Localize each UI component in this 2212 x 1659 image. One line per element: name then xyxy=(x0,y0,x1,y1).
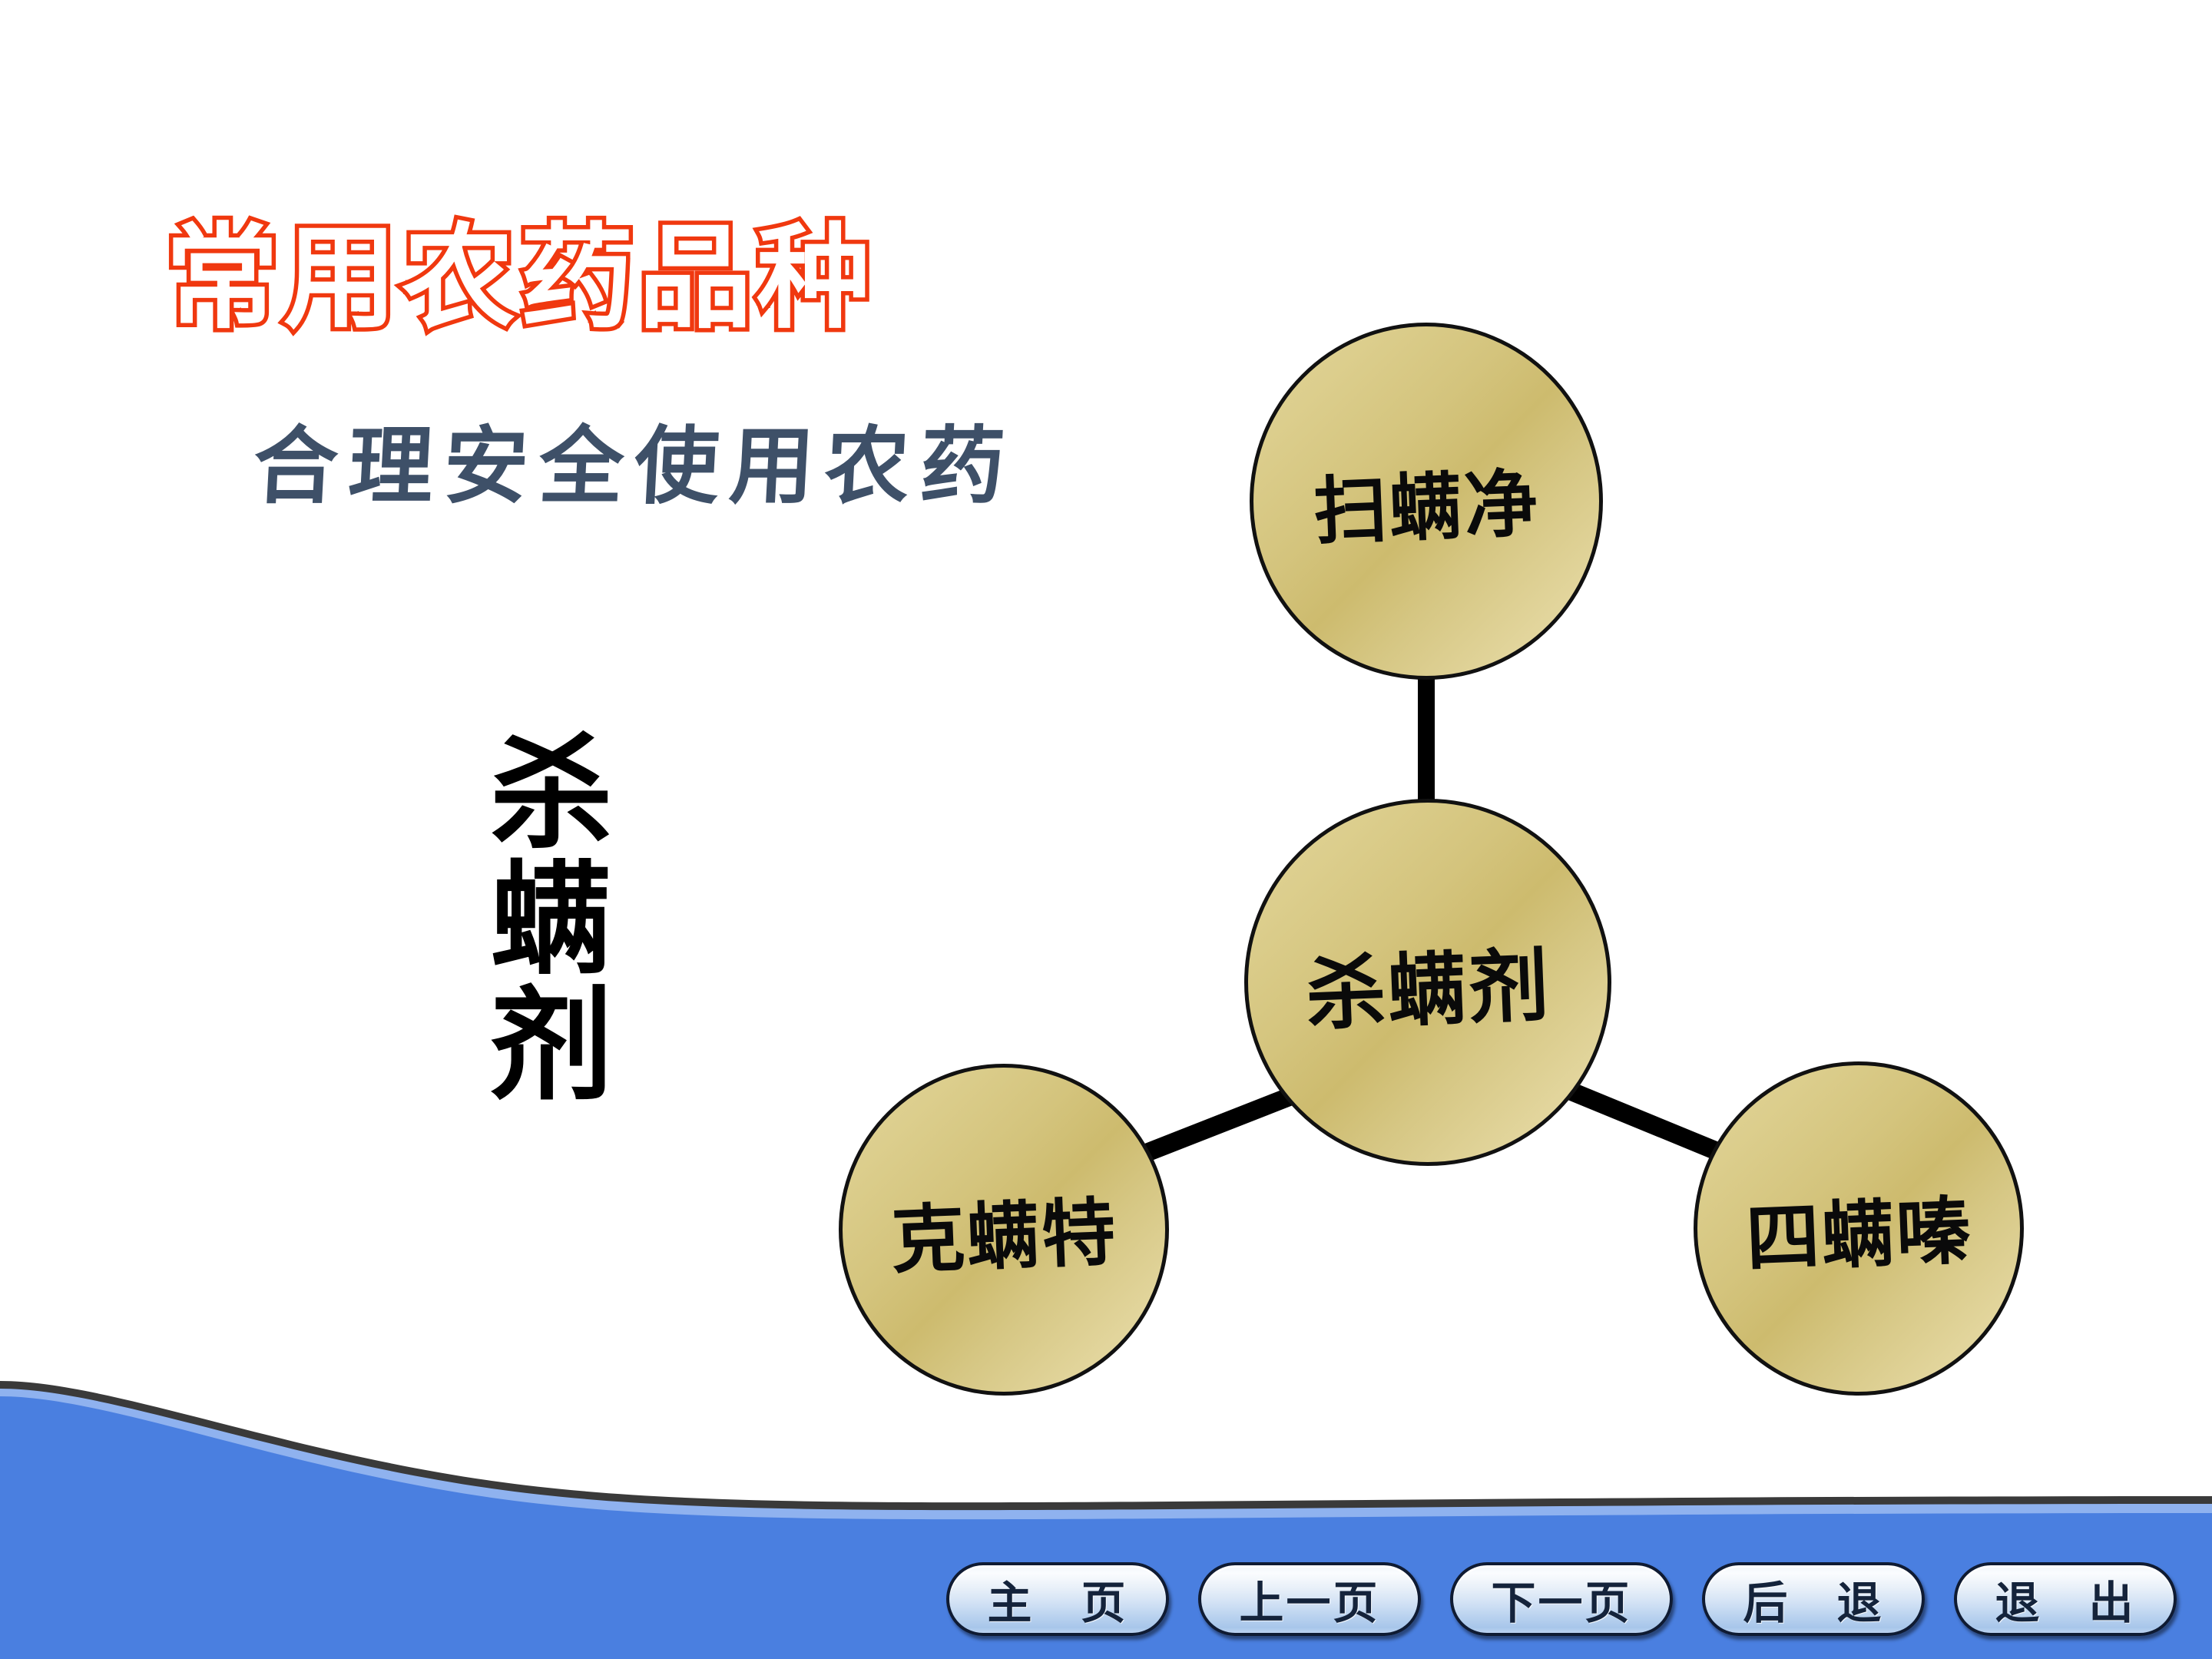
previous-page-button[interactable]: 上一页 xyxy=(1198,1562,1421,1636)
diagram-node-top[interactable]: 扫螨净 xyxy=(1250,323,1603,680)
next-page-button[interactable]: 下一页 xyxy=(1450,1562,1673,1636)
page-title: 常用农药品种 xyxy=(165,221,875,335)
diagram-node-left[interactable]: 克螨特 xyxy=(839,1064,1169,1396)
exit-button[interactable]: 退 出 xyxy=(1954,1562,2177,1636)
diagram-node-center[interactable]: 杀螨剂 xyxy=(1244,799,1611,1166)
next-page-button-label: 下一页 xyxy=(1491,1567,1631,1631)
back-button-label: 后 退 xyxy=(1743,1567,1883,1631)
back-button[interactable]: 后 退 xyxy=(1702,1562,1925,1636)
diagram-node-center-label: 杀螨剂 xyxy=(1303,919,1552,1045)
diagram-node-right-label: 四螨嗪 xyxy=(1743,1171,1973,1286)
navigation-bar: 主 页 上一页 下一页 后 退 退 出 xyxy=(0,1562,2212,1659)
vertical-category-label: 杀螨剂 xyxy=(458,728,604,1106)
diagram-node-top-label: 扫螨净 xyxy=(1311,443,1541,558)
exit-button-label: 退 出 xyxy=(1995,1567,2135,1631)
page-subtitle: 合理安全使用农药 xyxy=(251,424,1018,508)
previous-page-button-label: 上一页 xyxy=(1239,1567,1379,1631)
diagram-node-left-label: 克螨特 xyxy=(889,1172,1118,1287)
home-button[interactable]: 主 页 xyxy=(946,1562,1169,1636)
slide-canvas: 常用农药品种 合理安全使用农药 杀螨剂 扫螨净 杀螨剂 克螨特 xyxy=(0,0,2212,1659)
home-button-label: 主 页 xyxy=(987,1567,1128,1631)
diagram-node-right[interactable]: 四螨嗪 xyxy=(1694,1061,2024,1396)
